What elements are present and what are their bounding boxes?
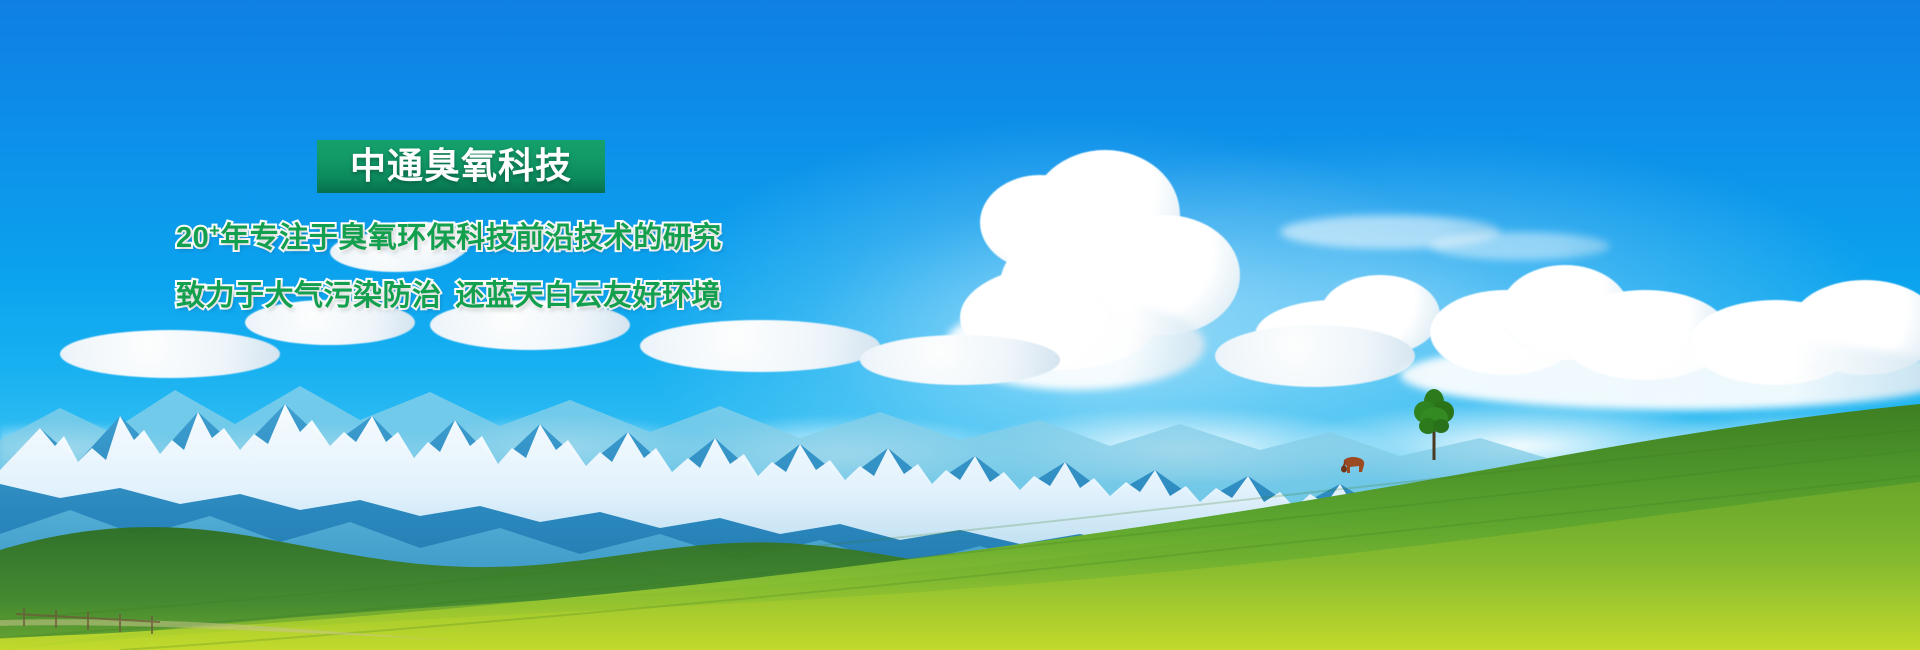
grazing-horse <box>1338 452 1368 478</box>
company-title-badge[interactable]: 中通臭氧科技 <box>317 140 605 193</box>
tagline-line-2-part-2: 还蓝天白云友好环境 <box>456 280 722 312</box>
hero-banner: 中通臭氧科技 20+年专注于臭氧环保科技前沿技术的研究 致力于大气污染防治还蓝天… <box>0 0 1920 650</box>
tagline-line-1-rest: 年专注于臭氧环保科技前沿技术的研究 <box>220 222 722 254</box>
tagline-line-1: 20+年专注于臭氧环保科技前沿技术的研究 <box>176 214 722 256</box>
tagline-plus-superscript: + <box>209 220 220 240</box>
grass-hillside <box>0 320 1920 650</box>
tagline-line-2: 致力于大气污染防治还蓝天白云友好环境 <box>176 272 721 314</box>
lone-tree <box>1398 382 1468 460</box>
tagline-years-number: 20 <box>176 222 209 254</box>
company-title-text: 中通臭氧科技 <box>350 148 572 184</box>
tagline-line-2-part-1: 致力于大气污染防治 <box>176 280 442 312</box>
